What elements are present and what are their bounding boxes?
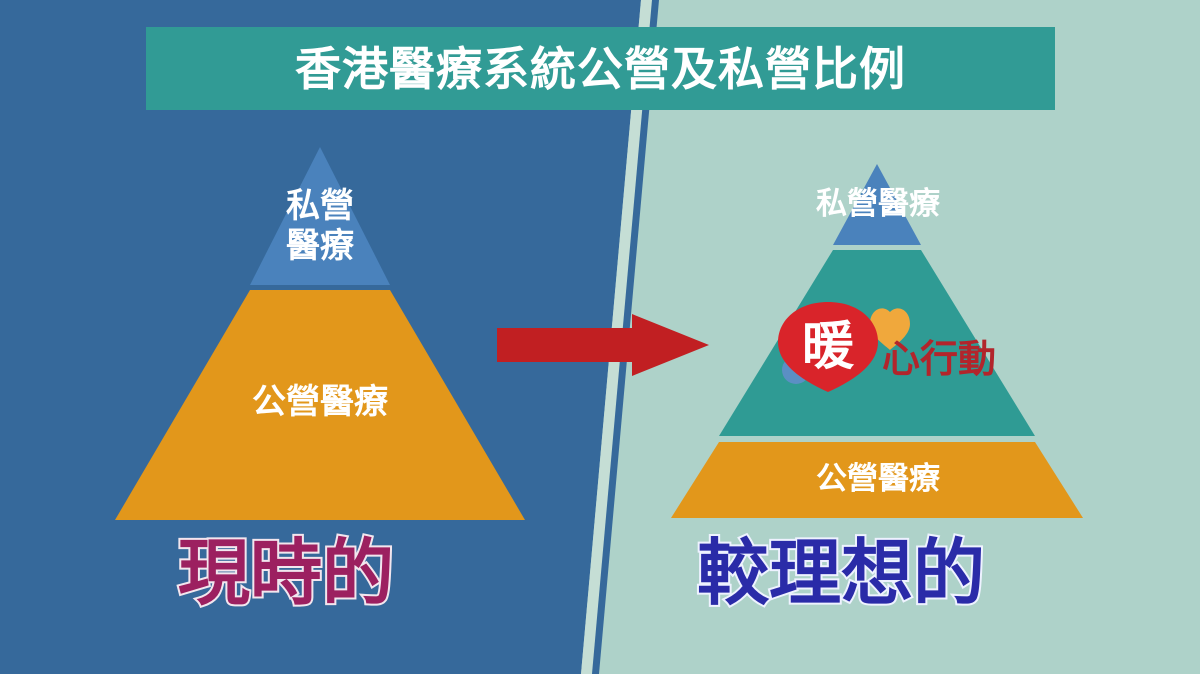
title-bar: 香港醫療系統公營及私營比例 [146,27,1055,110]
page-title: 香港醫療系統公營及私營比例 [295,46,906,92]
infographic-canvas: 香港醫療系統公營及私營比例 私營 醫療 公營醫療 私營醫療 公營醫療 暖 心行動 [0,0,1200,674]
logo-heart-character: 暖 [802,317,855,377]
caption-current-state: 現時的 [178,537,394,609]
pyramid-band-public-right [671,442,1083,518]
warm-heart-action-logo: 暖 心行動 [772,294,1004,392]
pyramid-band-private-left [250,147,390,285]
current-state-pyramid [80,140,560,540]
logo-wordmark: 心行動 [882,337,996,381]
pyramid-band-public-left [115,290,525,520]
caption-ideal-state: 較理想的 [697,537,985,609]
pyramid-band-private-right [833,164,921,245]
